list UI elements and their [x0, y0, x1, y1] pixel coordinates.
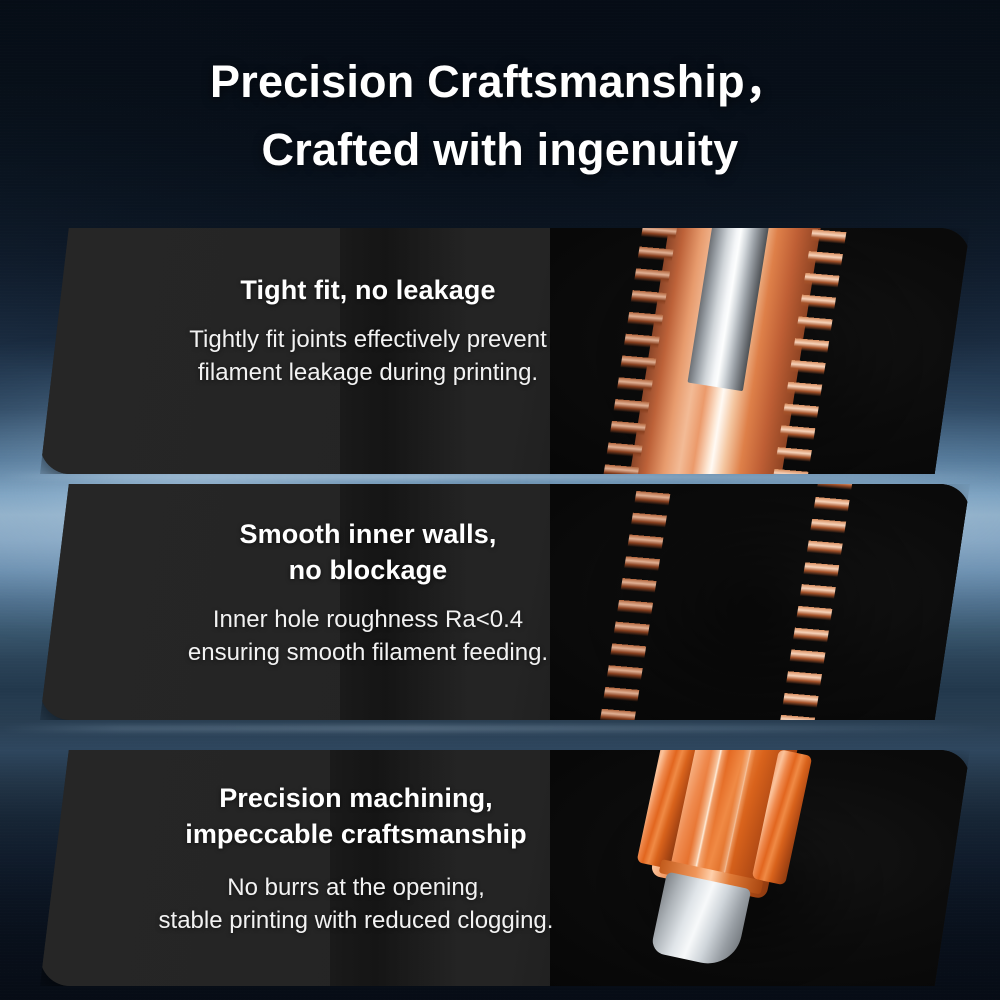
page-title-line-2: Crafted with ingenuity	[0, 116, 1000, 184]
feature-card-2: Smooth inner walls, no blockage Inner ho…	[40, 484, 970, 720]
feature-card-3-description: No burrs at the opening, stable printing…	[56, 872, 656, 937]
feature-card-1: Tight fit, no leakage Tightly fit joints…	[40, 228, 970, 474]
nozzle-steel-tip	[650, 872, 751, 970]
background-light-band	[0, 474, 1000, 479]
feature-card-1-title: Tight fit, no leakage	[68, 272, 668, 308]
feature-card-3: Precision machining, impeccable craftsma…	[40, 750, 970, 986]
feature-card-2-description: Inner hole roughness Ra<0.4 ensuring smo…	[68, 604, 668, 669]
feature-card-1-text: Tight fit, no leakage Tightly fit joints…	[68, 272, 668, 389]
feature-card-2-title: Smooth inner walls, no blockage	[68, 516, 668, 588]
page-title: Precision Craftsmanship， Crafted with in…	[0, 48, 1000, 185]
feature-card-1-description: Tightly fit joints effectively prevent f…	[68, 324, 668, 389]
feature-card-3-text: Precision machining, impeccable craftsma…	[56, 780, 656, 938]
feature-card-2-text: Smooth inner walls, no blockage Inner ho…	[68, 516, 668, 670]
product-feature-poster: Precision Craftsmanship， Crafted with in…	[0, 0, 1000, 1000]
page-title-line-1: Precision Craftsmanship，	[0, 48, 1000, 116]
feature-card-3-title: Precision machining, impeccable craftsma…	[56, 780, 656, 852]
